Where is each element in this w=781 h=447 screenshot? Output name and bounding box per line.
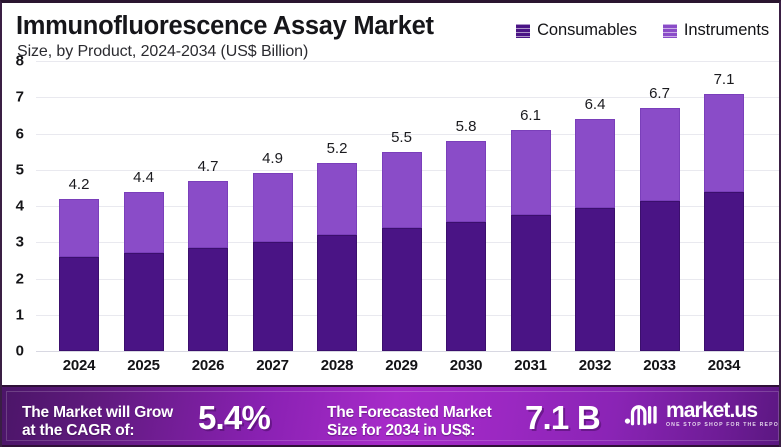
bar-group[interactable]: 4.4 bbox=[124, 61, 164, 351]
bar-value-label: 7.1 bbox=[714, 71, 735, 88]
legend-swatch-striped-icon bbox=[516, 24, 530, 38]
legend-label: Instruments bbox=[684, 21, 769, 40]
x-axis: 2024202520262027202820292030203120322033… bbox=[36, 352, 779, 382]
bar-segment-consumables[interactable] bbox=[124, 253, 164, 351]
bar-segment-consumables[interactable] bbox=[188, 248, 228, 351]
y-axis-tick: 7 bbox=[16, 89, 24, 106]
x-axis-tick: 2024 bbox=[49, 357, 109, 374]
cagr-label-line1: The Market will Grow bbox=[22, 404, 173, 421]
bar-segment-instruments[interactable] bbox=[704, 94, 744, 192]
bar-segment-consumables[interactable] bbox=[511, 215, 551, 351]
x-axis-tick: 2029 bbox=[372, 357, 432, 374]
bar-value-label: 4.2 bbox=[69, 176, 90, 193]
forecast-label-line1: The Forecasted Market bbox=[327, 404, 492, 421]
market-us-mark-icon bbox=[624, 401, 658, 428]
x-axis-tick: 2027 bbox=[243, 357, 303, 374]
forecast-value: 7.1 B bbox=[525, 399, 600, 437]
x-axis-tick: 2031 bbox=[501, 357, 561, 374]
bar-segment-consumables[interactable] bbox=[704, 192, 744, 352]
bar-segment-consumables[interactable] bbox=[640, 201, 680, 351]
y-axis-tick: 1 bbox=[16, 306, 24, 323]
chart-plot-area: 012345678 4.24.44.74.95.25.55.86.16.46.7… bbox=[2, 61, 781, 386]
bar-segment-consumables[interactable] bbox=[575, 208, 615, 351]
legend-swatch-striped-icon bbox=[663, 24, 677, 38]
page-subtitle: Size, by Product, 2024-2034 (US$ Billion… bbox=[17, 43, 308, 61]
bar-value-label: 5.8 bbox=[456, 118, 477, 135]
bar-group[interactable]: 4.2 bbox=[59, 61, 99, 351]
bar-group[interactable]: 4.7 bbox=[188, 61, 228, 351]
x-axis-tick: 2032 bbox=[565, 357, 625, 374]
bar-group[interactable]: 5.5 bbox=[382, 61, 422, 351]
x-axis-tick: 2030 bbox=[436, 357, 496, 374]
x-axis-tick: 2025 bbox=[114, 357, 174, 374]
bar-value-label: 6.7 bbox=[649, 85, 670, 102]
bar-segment-instruments[interactable] bbox=[317, 163, 357, 236]
page-title: Immunofluorescence Assay Market bbox=[16, 12, 434, 41]
logo-tagline: ONE STOP SHOP FOR THE REPORTS bbox=[666, 423, 781, 428]
bar-group[interactable]: 5.8 bbox=[446, 61, 486, 351]
cagr-value: 5.4% bbox=[198, 399, 270, 437]
bar-group[interactable]: 5.2 bbox=[317, 61, 357, 351]
y-axis-tick: 3 bbox=[16, 234, 24, 251]
chart-legend: Consumables Instruments bbox=[516, 21, 769, 40]
chart-header: Immunofluorescence Assay Market Size, by… bbox=[2, 3, 781, 65]
bar-segment-consumables[interactable] bbox=[59, 257, 99, 351]
bar-value-label: 4.4 bbox=[133, 169, 154, 186]
cagr-label-line2: at the CAGR of: bbox=[22, 422, 134, 439]
logo-wordmark: market.us bbox=[666, 400, 757, 421]
bar-value-label: 4.9 bbox=[262, 150, 283, 167]
bar-value-label: 6.1 bbox=[520, 107, 541, 124]
bar-segment-instruments[interactable] bbox=[188, 181, 228, 248]
bar-segment-instruments[interactable] bbox=[446, 141, 486, 223]
chart-infographic: Immunofluorescence Assay Market Size, by… bbox=[0, 0, 781, 447]
bar-value-label: 5.5 bbox=[391, 129, 412, 146]
x-axis-tick: 2033 bbox=[630, 357, 690, 374]
bar-segment-consumables[interactable] bbox=[253, 242, 293, 351]
chart-bars: 4.24.44.74.95.25.55.86.16.46.77.1 bbox=[36, 61, 779, 351]
bar-segment-instruments[interactable] bbox=[511, 130, 551, 215]
y-axis-tick: 6 bbox=[16, 125, 24, 142]
legend-item-instruments[interactable]: Instruments bbox=[663, 21, 769, 40]
y-axis: 012345678 bbox=[2, 61, 36, 351]
bar-value-label: 5.2 bbox=[327, 140, 348, 157]
bar-segment-instruments[interactable] bbox=[124, 192, 164, 254]
forecast-label: The Forecasted Market Size for 2034 in U… bbox=[327, 404, 492, 441]
bar-segment-instruments[interactable] bbox=[253, 173, 293, 242]
bar-segment-consumables[interactable] bbox=[382, 228, 422, 351]
bar-value-label: 6.4 bbox=[585, 96, 606, 113]
forecast-label-line2: Size for 2034 in US$: bbox=[327, 422, 475, 439]
cagr-label: The Market will Grow at the CAGR of: bbox=[22, 404, 173, 441]
bar-value-label: 4.7 bbox=[198, 158, 219, 175]
legend-label: Consumables bbox=[537, 21, 637, 40]
bar-group[interactable]: 6.7 bbox=[640, 61, 680, 351]
bar-segment-instruments[interactable] bbox=[640, 108, 680, 200]
bar-group[interactable]: 6.1 bbox=[511, 61, 551, 351]
bar-group[interactable]: 4.9 bbox=[253, 61, 293, 351]
bar-segment-instruments[interactable] bbox=[382, 152, 422, 228]
y-axis-tick: 0 bbox=[16, 343, 24, 360]
x-axis-tick: 2026 bbox=[178, 357, 238, 374]
x-axis-tick: 2034 bbox=[694, 357, 754, 374]
bar-group[interactable]: 6.4 bbox=[575, 61, 615, 351]
legend-item-consumables[interactable]: Consumables bbox=[516, 21, 637, 40]
y-axis-tick: 2 bbox=[16, 270, 24, 287]
bar-segment-instruments[interactable] bbox=[575, 119, 615, 208]
y-axis-tick: 5 bbox=[16, 161, 24, 178]
bar-segment-instruments[interactable] bbox=[59, 199, 99, 257]
y-axis-tick: 8 bbox=[16, 53, 24, 70]
market-us-logo[interactable]: market.us ONE STOP SHOP FOR THE REPORTS bbox=[624, 400, 781, 428]
footer-banner: The Market will Grow at the CAGR of: 5.4… bbox=[2, 385, 781, 447]
bar-group[interactable]: 7.1 bbox=[704, 61, 744, 351]
bar-segment-consumables[interactable] bbox=[446, 222, 486, 351]
bar-segment-consumables[interactable] bbox=[317, 235, 357, 351]
x-axis-tick: 2028 bbox=[307, 357, 367, 374]
y-axis-tick: 4 bbox=[16, 198, 24, 215]
